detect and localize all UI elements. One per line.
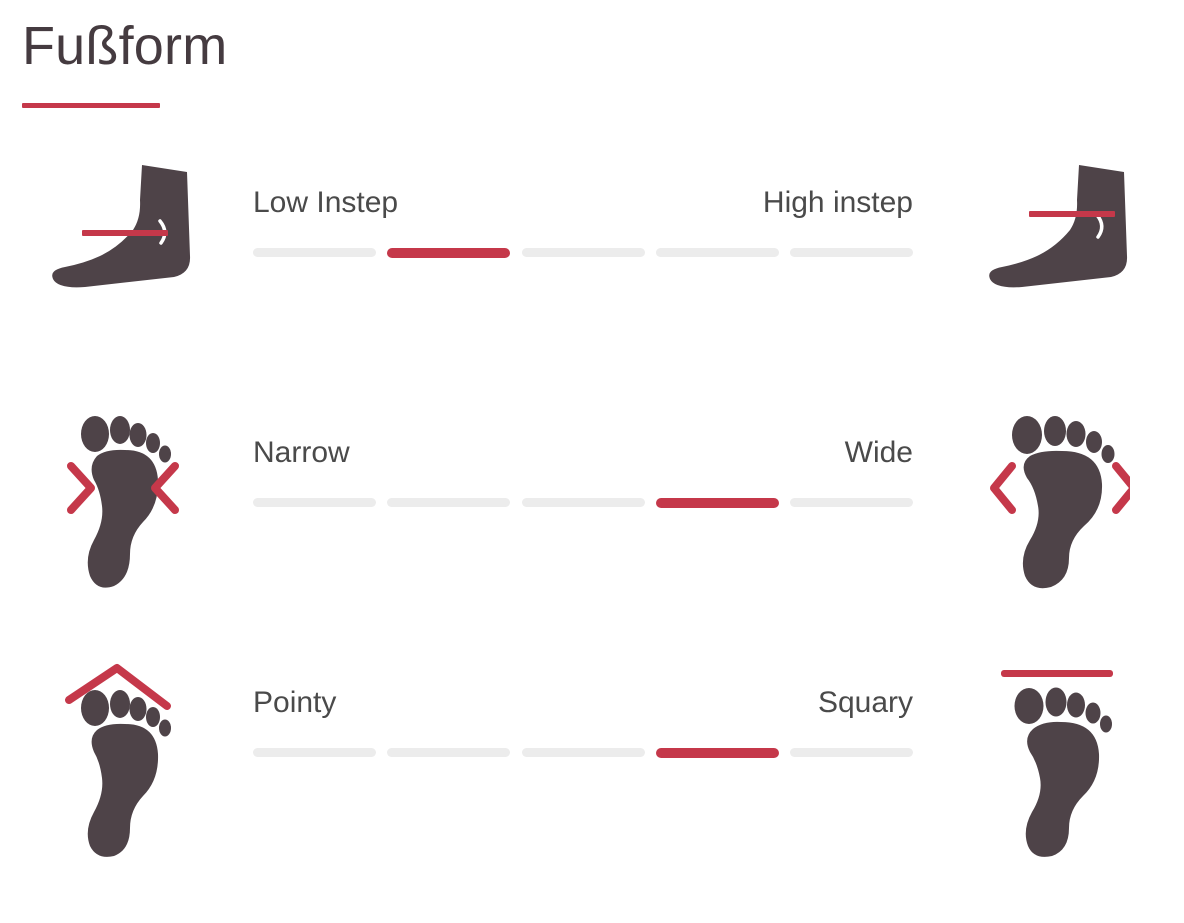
- scale-label-high-instep: High instep: [763, 188, 913, 218]
- page-header: Fußform: [22, 18, 922, 108]
- scale-segment-2[interactable]: [387, 248, 510, 258]
- title-underline-rule: [22, 103, 160, 108]
- scale-segment-3[interactable]: [522, 498, 645, 507]
- scale-segment-1[interactable]: [253, 498, 376, 507]
- scale-segment-2[interactable]: [387, 748, 510, 757]
- attribute-row-instep: Low Instep High instep: [0, 160, 1184, 410]
- footprint-pointy-icon: [28, 660, 218, 890]
- page-title: Fußform: [22, 18, 922, 75]
- scale-instep[interactable]: Low Instep High instep: [253, 188, 913, 258]
- attribute-row-width: Narrow Wide: [0, 410, 1184, 660]
- scale-segment-5[interactable]: [790, 498, 913, 507]
- scale-segment-3[interactable]: [522, 248, 645, 257]
- scale-segment-3[interactable]: [522, 748, 645, 757]
- scale-labels: Narrow Wide: [253, 438, 913, 468]
- scale-label-low-instep: Low Instep: [253, 188, 398, 218]
- scale-segment-2[interactable]: [387, 498, 510, 507]
- scale-width[interactable]: Narrow Wide: [253, 438, 913, 508]
- scale-track-instep[interactable]: [253, 248, 913, 258]
- scale-segment-5[interactable]: [790, 748, 913, 757]
- footprint-squary-icon: [965, 660, 1155, 890]
- footprint-wide-icon: [965, 410, 1155, 640]
- scale-segment-4[interactable]: [656, 248, 779, 257]
- scale-label-squary: Squary: [818, 688, 913, 718]
- scale-segment-4[interactable]: [656, 748, 779, 758]
- scale-toe-shape[interactable]: Pointy Squary: [253, 688, 913, 758]
- scale-label-pointy: Pointy: [253, 688, 336, 718]
- scale-segment-1[interactable]: [253, 748, 376, 757]
- scale-track-toe-shape[interactable]: [253, 748, 913, 758]
- foot-side-low-instep-icon: [28, 160, 218, 390]
- attribute-row-toe-shape: Pointy Squary: [0, 660, 1184, 910]
- foot-side-high-instep-icon: [965, 160, 1155, 390]
- footprint-narrow-icon: [28, 410, 218, 640]
- scale-segment-1[interactable]: [253, 248, 376, 257]
- scale-labels: Pointy Squary: [253, 688, 913, 718]
- scale-segment-5[interactable]: [790, 248, 913, 257]
- scale-label-wide: Wide: [845, 438, 913, 468]
- scale-segment-4[interactable]: [656, 498, 779, 508]
- scale-track-width[interactable]: [253, 498, 913, 508]
- scale-labels: Low Instep High instep: [253, 188, 913, 218]
- scale-label-narrow: Narrow: [253, 438, 350, 468]
- foot-shape-attribute-list: Low Instep High instep: [0, 160, 1184, 910]
